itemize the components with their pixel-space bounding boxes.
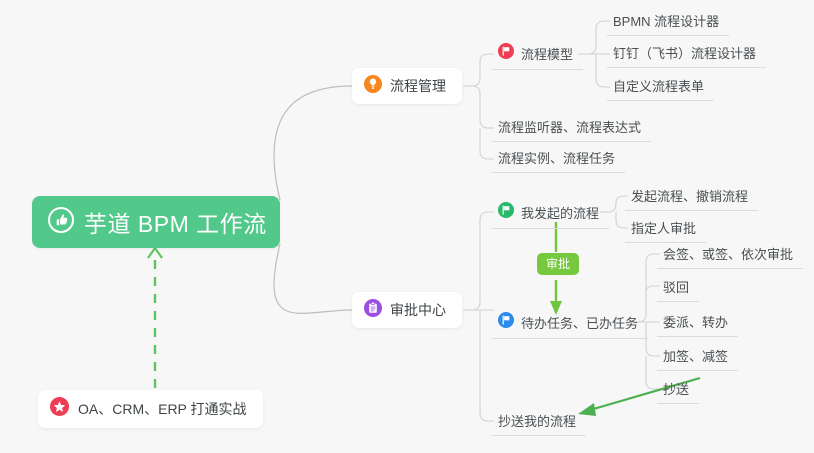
leaf-bpmn-designer[interactable]: BPMN 流程设计器 bbox=[607, 9, 729, 36]
leaf-designated-approver[interactable]: 指定人审批 bbox=[625, 216, 706, 243]
leaf-my-initiated-process[interactable]: 我发起的流程 bbox=[492, 200, 609, 229]
leaf-process-listener-label: 流程监听器、流程表达式 bbox=[498, 117, 641, 136]
leaf-cc-my-process-label: 抄送我的流程 bbox=[498, 411, 576, 430]
leaf-process-model-label: 流程模型 bbox=[521, 44, 573, 63]
approve-chip-label: 审批 bbox=[546, 257, 570, 271]
arrow-head-root bbox=[148, 248, 162, 258]
leaf-process-model[interactable]: 流程模型 bbox=[492, 41, 583, 70]
leaf-designated-approver-label: 指定人审批 bbox=[631, 218, 696, 237]
leaf-reject-label: 驳回 bbox=[663, 277, 689, 296]
leaf-countersign-label: 会签、或签、依次审批 bbox=[663, 244, 793, 263]
callout-node-integration[interactable]: OA、CRM、ERP 打通实战 bbox=[38, 390, 263, 428]
leaf-process-instance-label: 流程实例、流程任务 bbox=[498, 148, 615, 167]
link-approval-trunk-up bbox=[463, 212, 494, 310]
leaf-start-cancel-process[interactable]: 发起流程、撤销流程 bbox=[625, 184, 758, 211]
leaf-delegate-transfer[interactable]: 委派、转办 bbox=[657, 310, 738, 337]
clipboard-icon bbox=[364, 299, 382, 322]
root-node-label: 芋道 BPM 工作流 bbox=[84, 205, 267, 239]
thumbs-up-icon bbox=[48, 207, 74, 238]
leaf-custom-form-label: 自定义流程表单 bbox=[613, 76, 704, 95]
leaf-dingtalk-designer[interactable]: 钉钉（飞书）流程设计器 bbox=[607, 41, 766, 68]
branch-node-approval-center-label: 审批中心 bbox=[390, 300, 446, 320]
flag-icon bbox=[498, 312, 514, 333]
flag-icon bbox=[498, 202, 514, 223]
leaf-countersign[interactable]: 会签、或签、依次审批 bbox=[657, 242, 803, 269]
leaf-carbon-copy-label: 抄送 bbox=[663, 379, 689, 398]
leaf-process-listener[interactable]: 流程监听器、流程表达式 bbox=[492, 115, 651, 142]
mindmap-canvas: 芋道 BPM 工作流 流程管理 流程模型 BPMN 流程设计器 钉钉（飞书）流程 bbox=[0, 0, 814, 453]
leaf-reject[interactable]: 驳回 bbox=[657, 275, 699, 302]
leaf-cc-my-process[interactable]: 抄送我的流程 bbox=[492, 409, 586, 436]
leaf-delegate-transfer-label: 委派、转办 bbox=[663, 312, 728, 331]
leaf-process-instance[interactable]: 流程实例、流程任务 bbox=[492, 146, 625, 173]
approve-chip: 审批 bbox=[537, 253, 579, 275]
branch-node-approval-center[interactable]: 审批中心 bbox=[352, 292, 462, 328]
branch-node-process-management[interactable]: 流程管理 bbox=[352, 68, 462, 104]
leaf-add-remove-sign-label: 加签、减签 bbox=[663, 346, 728, 365]
root-node[interactable]: 芋道 BPM 工作流 bbox=[32, 196, 280, 248]
link-root-to-approval-center bbox=[274, 244, 352, 313]
leaf-custom-form[interactable]: 自定义流程表单 bbox=[607, 74, 714, 101]
leaf-dingtalk-designer-label: 钉钉（飞书）流程设计器 bbox=[613, 43, 756, 62]
lightbulb-icon bbox=[364, 75, 382, 98]
leaf-start-cancel-process-label: 发起流程、撤销流程 bbox=[631, 186, 748, 205]
leaf-todo-done-tasks-label: 待办任务、已办任务 bbox=[521, 313, 638, 332]
leaf-todo-done-tasks[interactable]: 待办任务、已办任务 bbox=[492, 310, 648, 339]
leaf-add-remove-sign[interactable]: 加签、减签 bbox=[657, 344, 738, 371]
callout-node-integration-label: OA、CRM、ERP 打通实战 bbox=[78, 399, 247, 419]
link-process-mgmt-trunk-down bbox=[472, 86, 494, 128]
star-icon bbox=[50, 397, 69, 421]
link-process-mgmt-trunk bbox=[463, 54, 494, 86]
flag-icon bbox=[498, 43, 514, 64]
leaf-bpmn-designer-label: BPMN 流程设计器 bbox=[613, 11, 719, 30]
link-root-to-process-mgmt bbox=[274, 86, 352, 200]
leaf-my-initiated-process-label: 我发起的流程 bbox=[521, 203, 599, 222]
leaf-carbon-copy[interactable]: 抄送 bbox=[657, 377, 699, 404]
branch-node-process-management-label: 流程管理 bbox=[390, 76, 446, 96]
